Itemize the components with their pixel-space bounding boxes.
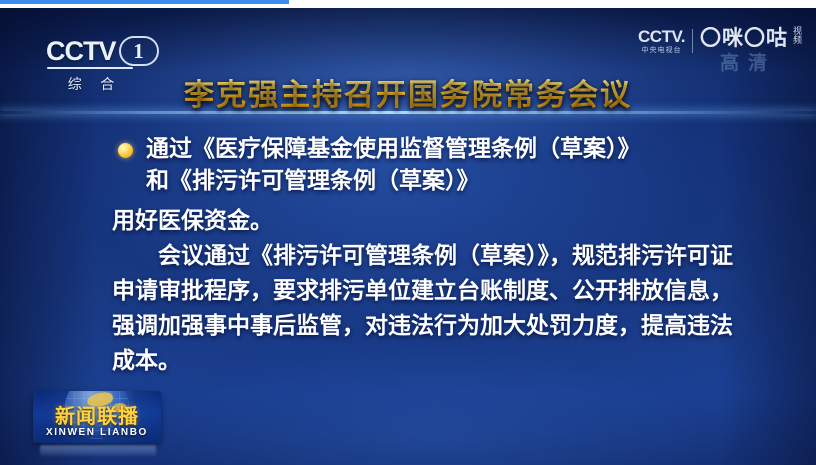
program-name-en: XINWEN LIANBO [33,428,161,438]
video-player-screen: CCTV 1 综 合 CCTV. 中央电视台 〇咪〇咕 视 频 高清 李克强主持… [0,0,816,465]
channel-number-badge: 1 [119,36,159,66]
bullet-dot-icon [118,143,133,158]
body-text: 用好医保资金。 会议通过《排污许可管理条例（草案）》，规范排污许可证申请审批程序… [112,204,738,379]
body-paragraph: 会议通过《排污许可管理条例（草案）》，规范排污许可证申请审批程序，要求排污单位建… [112,239,738,379]
headline-title: 李克强主持召开国务院常务会议 [0,70,816,114]
bullet-lines: 通过《医疗保障基金使用监督管理条例（草案）》 和《排污许可管理条例（草案）》 [146,134,641,197]
channel-logo-text: CCTV [46,38,116,65]
watermark-kind-line2: 频 [793,37,802,46]
program-logo-reflection [40,445,156,456]
watermark-broadcaster-text: CCTV. [638,28,685,45]
program-logo-xinwen-lianbo: 新闻联播 XINWEN LIANBO [33,391,161,443]
video-progress-bar[interactable] [0,0,816,8]
watermark-broadcaster-subtext: 中央电视台 [642,47,682,54]
bullet-line: 通过《医疗保障基金使用监督管理条例（草案）》 [146,134,641,166]
program-name-cn: 新闻联播 [33,406,161,426]
watermark-divider [692,29,693,53]
channel-number-text: 1 [133,41,144,62]
watermark-broadcaster: CCTV. 中央电视台 [638,28,692,54]
bullet-block: 通过《医疗保障基金使用监督管理条例（草案）》 和《排污许可管理条例（草案）》 [118,134,718,197]
channel-logo-row: CCTV 1 [46,34,168,68]
bullet-line: 和《排污许可管理条例（草案）》 [146,166,641,198]
body-paragraph: 用好医保资金。 [112,204,738,239]
video-progress-fill[interactable] [0,0,289,4]
channel-logo-underline [47,67,133,69]
broadcast-video-frame: CCTV 1 综 合 CCTV. 中央电视台 〇咪〇咕 视 频 高清 李克强主持… [0,8,816,465]
watermark-platform-kind: 视 频 [793,28,802,47]
watermark-platform-name: 〇咪〇咕 [700,28,788,49]
platform-watermark: CCTV. 中央电视台 〇咪〇咕 视 频 [638,28,802,54]
